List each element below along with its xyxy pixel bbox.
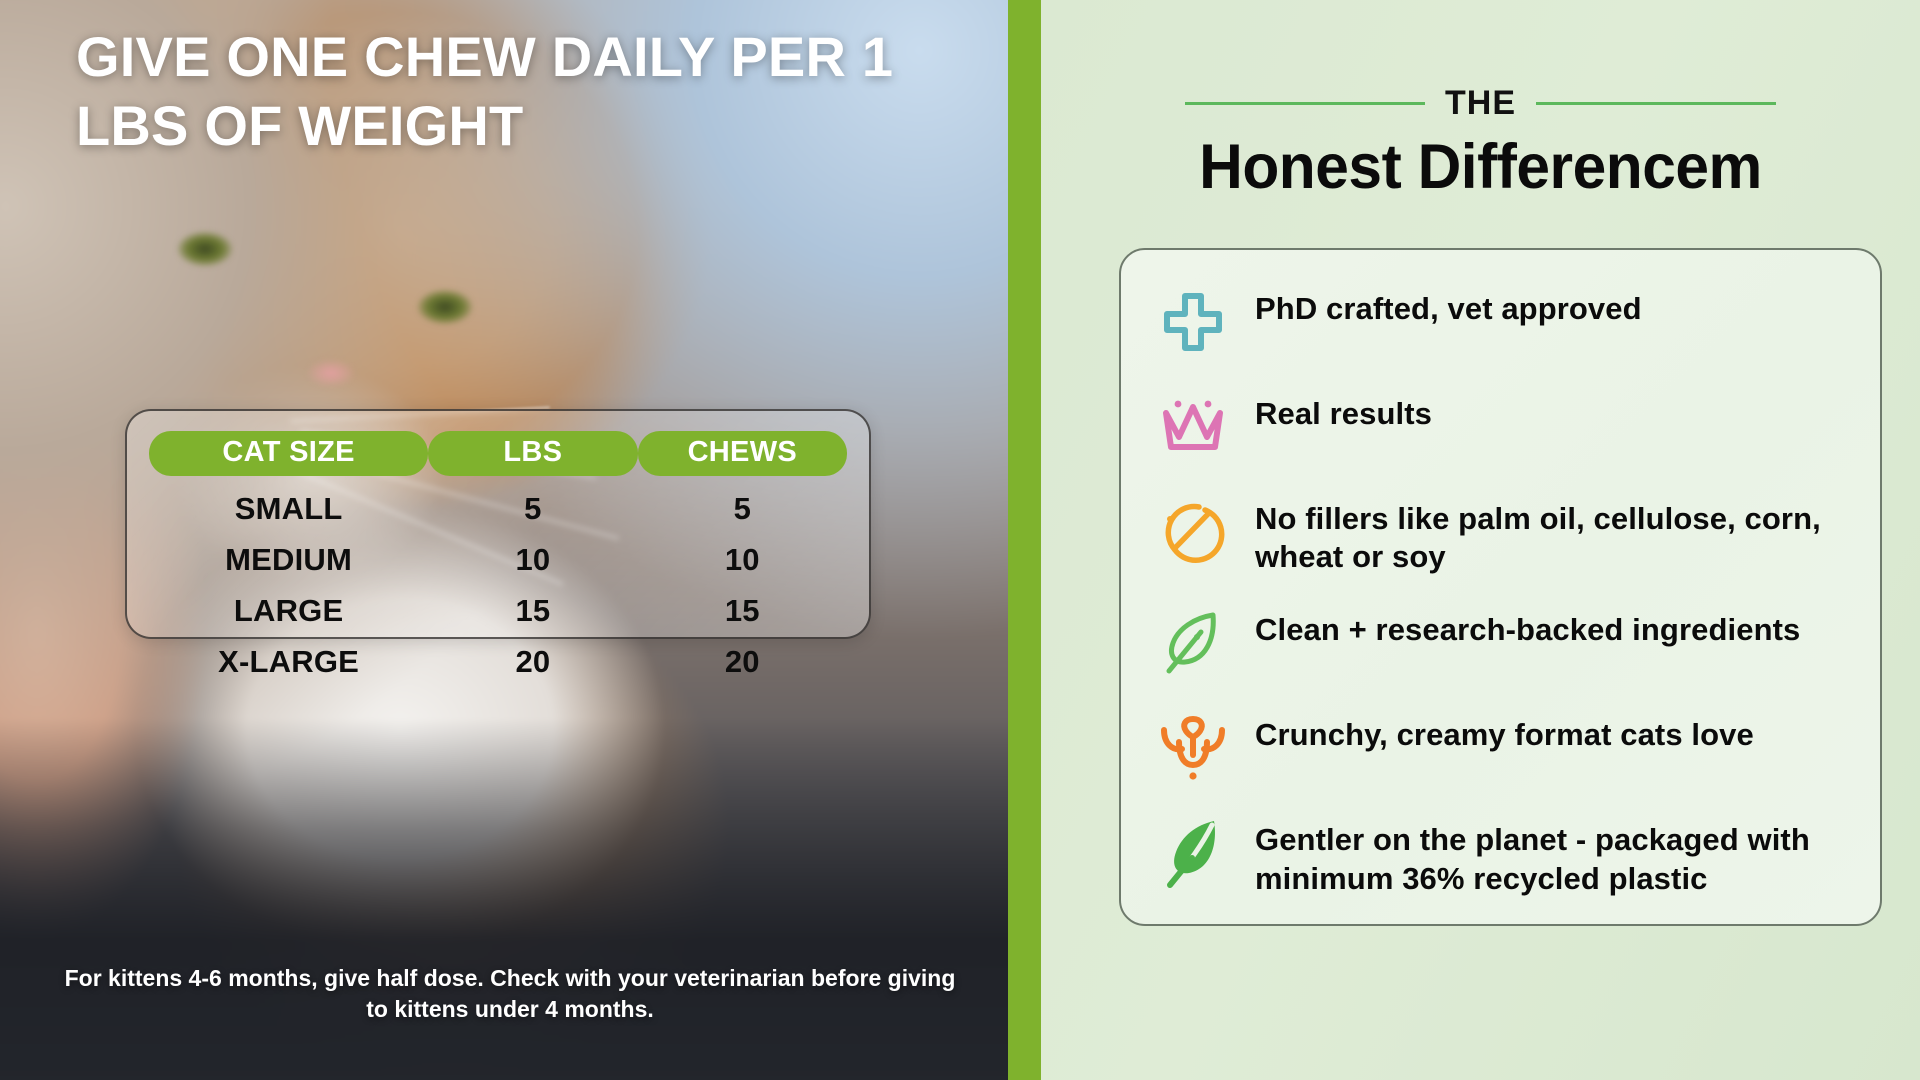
cell-cat-size: MEDIUM: [149, 535, 428, 586]
benefit-label: Gentler on the planet - packaged with mi…: [1255, 815, 1850, 898]
cat-eye-right: [418, 290, 472, 324]
benefits-card: PhD crafted, vet approved Real results: [1119, 248, 1882, 926]
table-row: MEDIUM 10 10: [149, 535, 847, 586]
cell-chews: 10: [638, 535, 847, 586]
crown-icon: [1155, 389, 1231, 465]
page-title: GIVE ONE CHEW DAILY PER 1 LBS OF WEIGHT: [76, 22, 956, 161]
table-row: SMALL 5 5: [149, 484, 847, 535]
rule-left: [1185, 102, 1425, 105]
cell-lbs: 10: [428, 535, 637, 586]
section-eyebrow-row: THE: [1079, 84, 1882, 123]
table-row: LARGE 15 15: [149, 586, 847, 637]
cell-cat-size: X-LARGE: [149, 637, 428, 688]
cell-chews: 20: [638, 637, 847, 688]
cell-lbs: 20: [428, 637, 637, 688]
kitten-disclaimer: For kittens 4-6 months, give half dose. …: [60, 963, 960, 1024]
list-item: Crunchy, creamy format cats love: [1155, 710, 1850, 786]
list-item: No fillers like palm oil, cellulose, cor…: [1155, 494, 1850, 577]
column-header-cat-size: CAT SIZE: [149, 431, 428, 484]
list-item: Clean + research-backed ingredients: [1155, 605, 1850, 681]
no-fillers-prohibition-icon: [1155, 494, 1231, 570]
vertical-divider: [1008, 0, 1041, 1080]
right-benefits-panel: THE Honest Differencem PhD crafted, vet …: [1041, 0, 1920, 1080]
leaf-solid-icon: [1155, 815, 1231, 891]
column-header-chews: CHEWS: [638, 431, 847, 484]
cell-chews: 15: [638, 586, 847, 637]
cat-nose: [308, 360, 354, 386]
cell-cat-size: SMALL: [149, 484, 428, 535]
cell-cat-size: LARGE: [149, 586, 428, 637]
benefit-label: Real results: [1255, 389, 1432, 433]
benefit-label: No fillers like palm oil, cellulose, cor…: [1255, 494, 1850, 577]
cat-whiskers-icon: [1155, 710, 1231, 786]
dosage-card: CAT SIZE LBS CHEWS SMALL 5 5 MEDIUM 10 1…: [125, 409, 871, 639]
table-header-row: CAT SIZE LBS CHEWS: [149, 431, 847, 484]
section-eyebrow: THE: [1445, 84, 1516, 123]
benefit-label: Crunchy, creamy format cats love: [1255, 710, 1754, 754]
leaf-outline-icon: [1155, 605, 1231, 681]
cat-eye-left: [178, 232, 232, 266]
benefit-label: Clean + research-backed ingredients: [1255, 605, 1800, 649]
cell-lbs: 15: [428, 586, 637, 637]
benefit-label: PhD crafted, vet approved: [1255, 284, 1642, 328]
left-photo-panel: GIVE ONE CHEW DAILY PER 1 LBS OF WEIGHT …: [0, 0, 1008, 1080]
section-title: Honest Differencem: [1095, 131, 1866, 203]
rule-right: [1536, 102, 1776, 105]
list-item: Gentler on the planet - packaged with mi…: [1155, 815, 1850, 898]
cell-lbs: 5: [428, 484, 637, 535]
medical-cross-icon: [1155, 284, 1231, 360]
table-row: X-LARGE 20 20: [149, 637, 847, 688]
list-item: Real results: [1155, 389, 1850, 465]
cell-chews: 5: [638, 484, 847, 535]
list-item: PhD crafted, vet approved: [1155, 284, 1850, 360]
dosage-table: CAT SIZE LBS CHEWS SMALL 5 5 MEDIUM 10 1…: [149, 431, 847, 688]
column-header-lbs: LBS: [428, 431, 637, 484]
